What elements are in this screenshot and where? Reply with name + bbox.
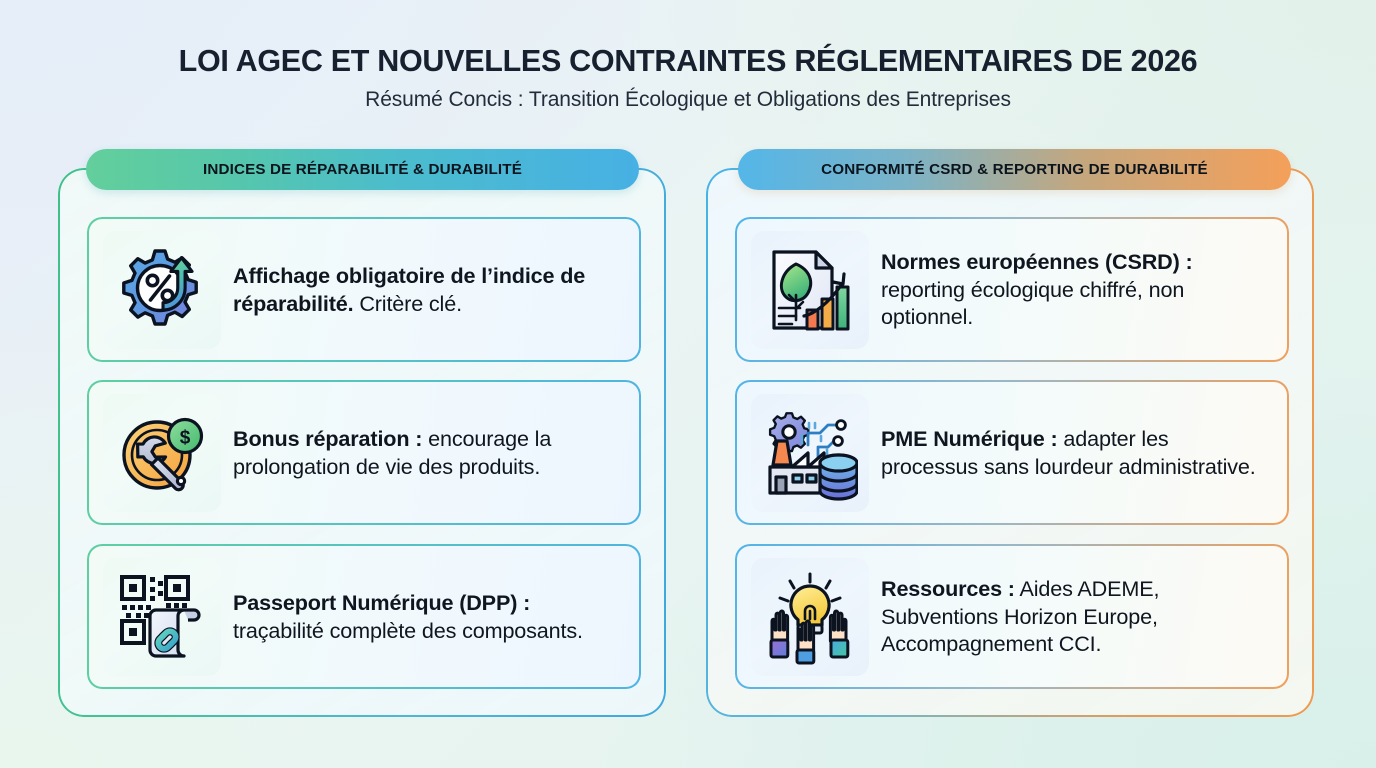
page-subtitle: Résumé Concis : Transition Écologique et… [0,88,1376,112]
card-text-rest: reporting écologique chiffré, non option… [881,277,1184,330]
card-text: Passeport Numérique (DPP) : traçabilité … [233,589,621,644]
card-ressources[interactable]: Ressources : Aides ADEME, Subventions Ho… [736,545,1288,688]
coin-wrench-dollar-icon: $ [103,394,221,512]
page-title: LOI AGEC ET NOUVELLES CONTRAINTES RÉGLEM… [0,44,1376,78]
column-header-right: CONFORMITÉ CSRD & REPORTING DE DURABILIT… [738,149,1291,190]
gear-percent-arrow-icon [103,231,221,349]
card-passeport-numerique[interactable]: Passeport Numérique (DPP) : traçabilité … [88,545,640,688]
card-normes-europeennes[interactable]: Normes européennes (CSRD) : reporting éc… [736,218,1288,361]
card-text: Affichage obligatoire de l’indice de rép… [233,262,621,317]
card-text-rest: Critère clé. [353,291,461,316]
card-bonus-reparation[interactable]: $ Bonus réparation : encourage la prolon… [88,381,640,524]
card-pme-numerique[interactable]: PME Numérique : adapter les processus sa… [736,381,1288,524]
card-text-bold: Ressources : [881,576,1015,601]
card-text-bold: Normes européennes (CSRD) : [881,249,1193,274]
column-header-left: INDICES DE RÉPARABILITÉ & DURABILITÉ [86,149,639,190]
card-affichage-obligatoire[interactable]: Affichage obligatoire de l’indice de rép… [88,218,640,361]
infographic-stage: LOI AGEC ET NOUVELLES CONTRAINTES RÉGLEM… [0,0,1376,768]
lightbulb-hands-icon [751,558,869,676]
svg-text:$: $ [180,427,191,448]
qr-code-scroll-link-icon [103,558,221,676]
header: LOI AGEC ET NOUVELLES CONTRAINTES RÉGLEM… [0,44,1376,112]
card-text-bold: PME Numérique : [881,426,1058,451]
card-text: Ressources : Aides ADEME, Subventions Ho… [881,575,1269,658]
document-leaf-chart-icon [751,231,869,349]
card-text-bold: Passeport Numérique (DPP) : [233,590,530,615]
card-text-rest: traçabilité complète des composants. [233,618,583,643]
card-text: Normes européennes (CSRD) : reporting éc… [881,248,1269,331]
factory-gear-database-icon [751,394,869,512]
card-text-bold: Bonus réparation : [233,426,422,451]
card-text: Bonus réparation : encourage la prolonga… [233,425,621,480]
card-text: PME Numérique : adapter les processus sa… [881,425,1269,480]
